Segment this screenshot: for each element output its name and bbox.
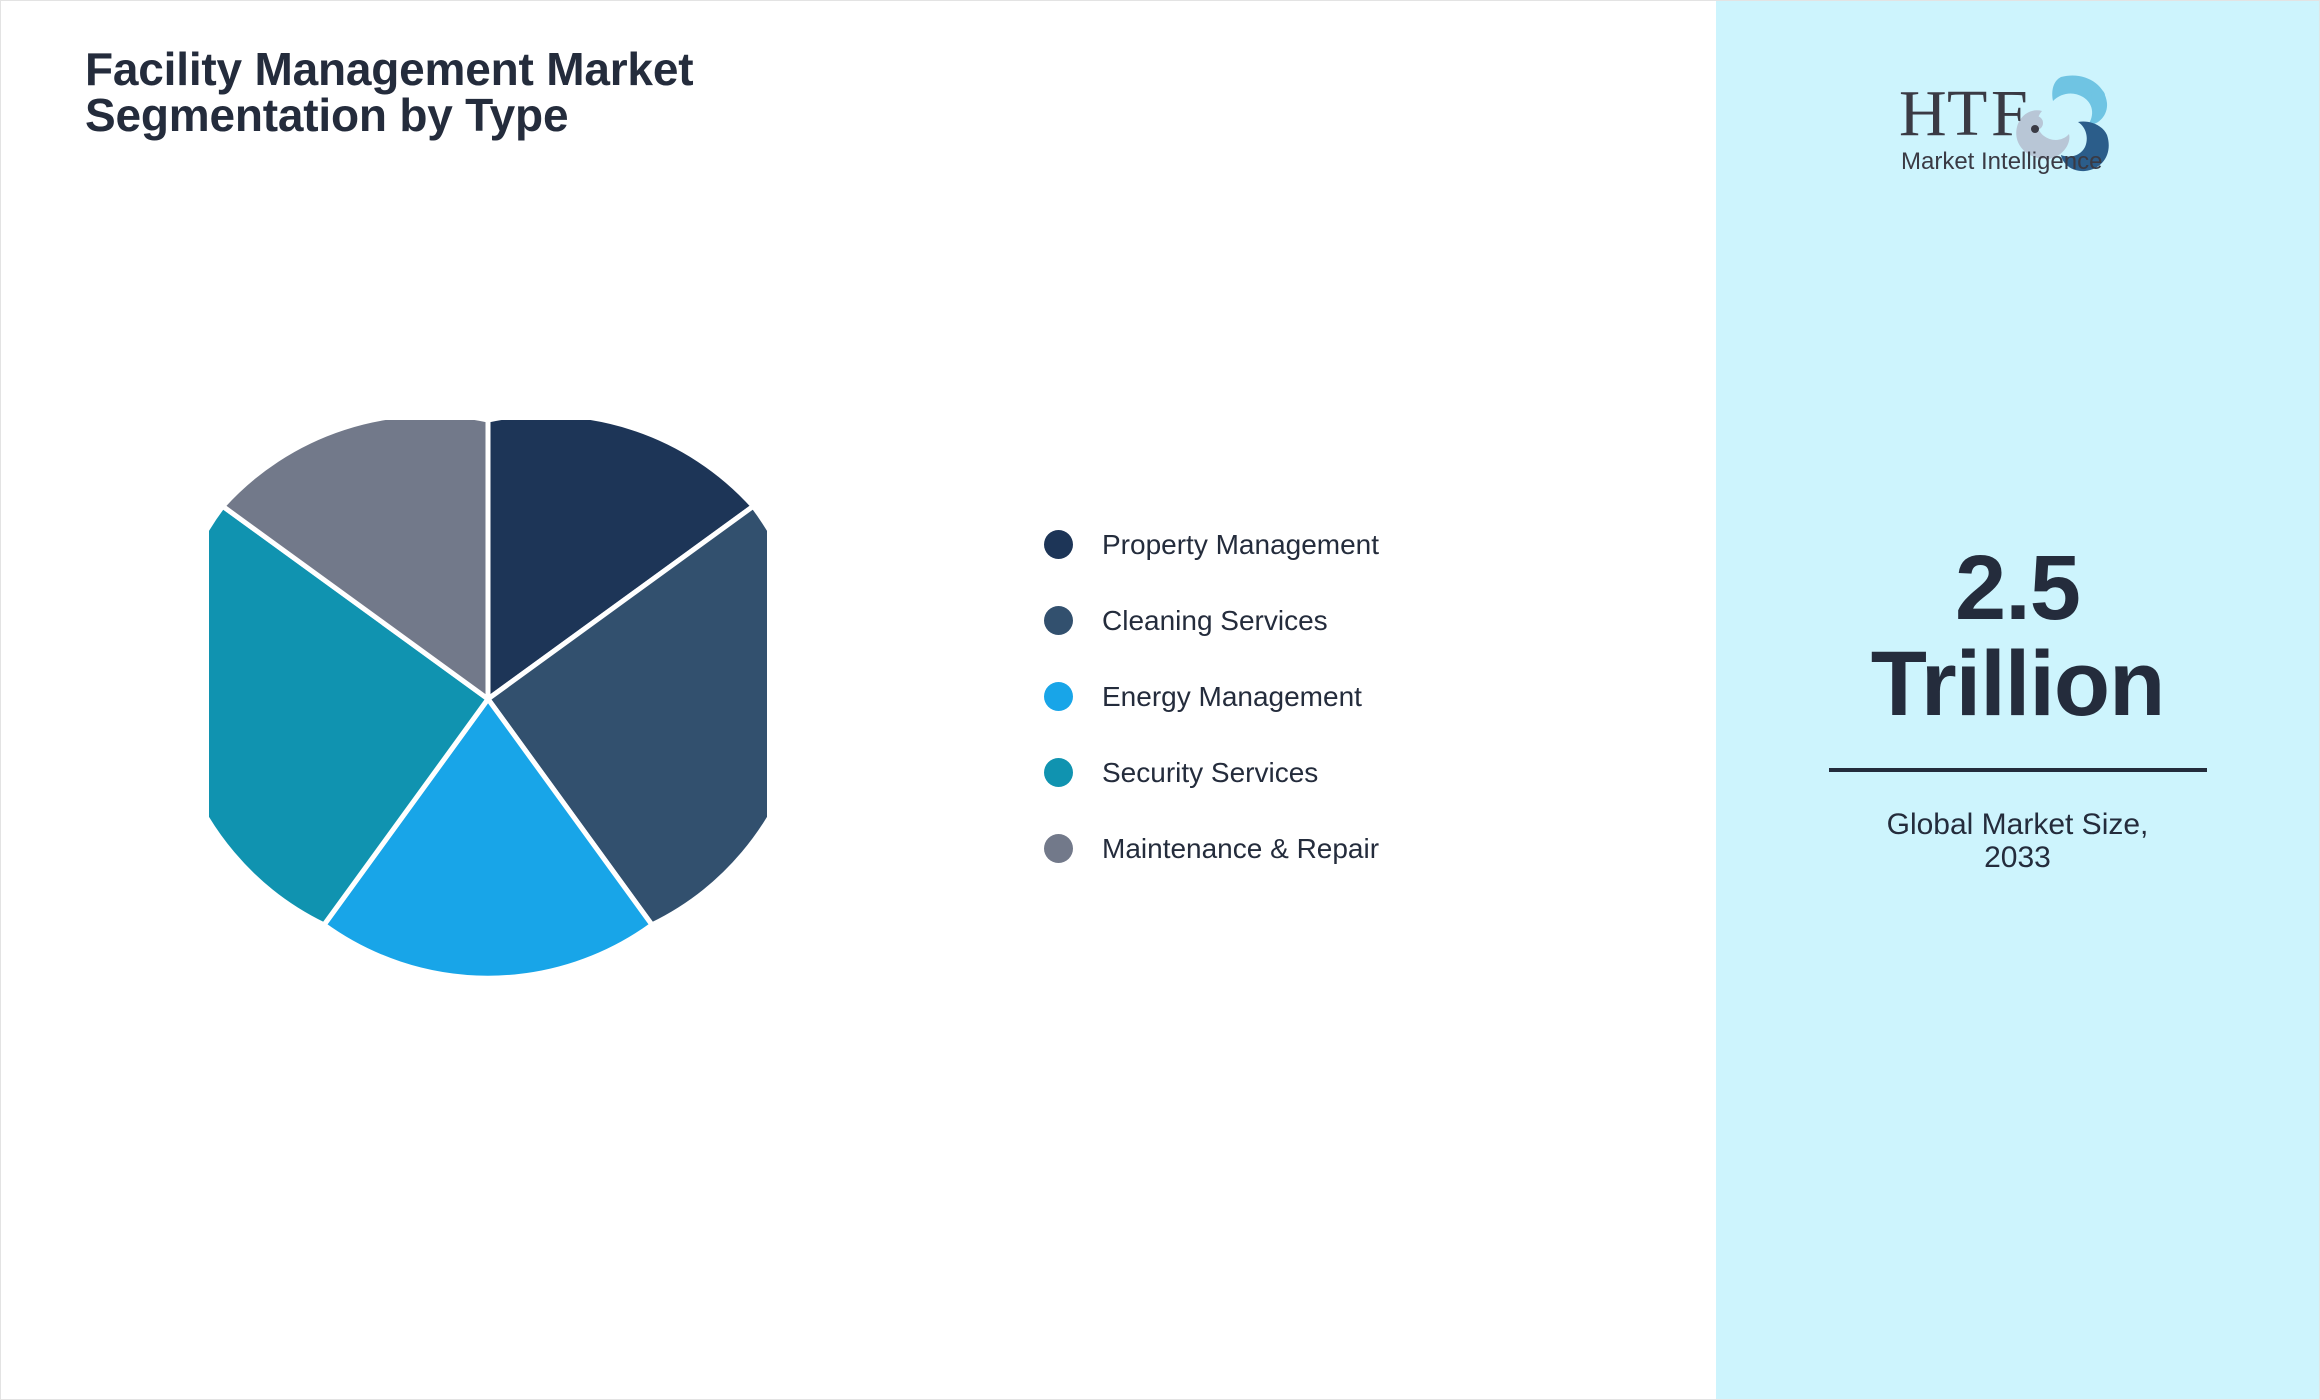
svg-text:T: T [1947, 77, 1987, 150]
htf-market-intelligence-logo: H T F Market Intelligence [1893, 63, 2143, 181]
legend-swatch-icon [1044, 682, 1073, 711]
legend-item-cleaning-services[interactable]: Cleaning Services [1044, 595, 1379, 646]
legend-swatch-icon [1044, 758, 1073, 787]
legend-item-label: Energy Management [1102, 681, 1362, 713]
stat-panel: H T F Market Intelligence 2.5 Trillion G… [1716, 1, 2319, 1399]
logo-svg: H T F Market Intelligence [1893, 63, 2143, 181]
legend-swatch-icon [1044, 834, 1073, 863]
legend-item-label: Property Management [1102, 529, 1379, 561]
legend-swatch-icon [1044, 606, 1073, 635]
svg-text:F: F [1991, 77, 2028, 150]
pie-slices [209, 420, 767, 978]
pie-chart [209, 420, 767, 978]
legend-item-security-services[interactable]: Security Services [1044, 747, 1379, 798]
stat-block: 2.5 Trillion Global Market Size, 2033 [1803, 541, 2233, 874]
stat-divider [1829, 768, 2207, 772]
logo-primary-text: H T F [1899, 77, 2039, 150]
logo-secondary-text: Market Intelligence [1901, 148, 2102, 175]
legend-swatch-icon [1044, 530, 1073, 559]
legend-item-property-management[interactable]: Property Management [1044, 519, 1379, 570]
chart-legend: Property Management Cleaning Services En… [1044, 519, 1379, 874]
legend-item-label: Cleaning Services [1102, 605, 1328, 637]
page-title: Facility Management Market Segmentation … [85, 46, 1185, 138]
stat-caption: Global Market Size, 2033 [1803, 808, 2233, 874]
chart-panel: Facility Management Market Segmentation … [1, 1, 1716, 1399]
legend-item-energy-management[interactable]: Energy Management [1044, 671, 1379, 722]
legend-item-maintenance-repair[interactable]: Maintenance & Repair [1044, 823, 1379, 874]
pie-chart-svg [209, 420, 767, 978]
legend-item-label: Maintenance & Repair [1102, 833, 1379, 865]
legend-item-label: Security Services [1102, 757, 1318, 789]
stat-value: 2.5 Trillion [1803, 541, 2233, 732]
infographic-root: Facility Management Market Segmentation … [0, 0, 2320, 1400]
svg-text:H: H [1899, 77, 1947, 150]
